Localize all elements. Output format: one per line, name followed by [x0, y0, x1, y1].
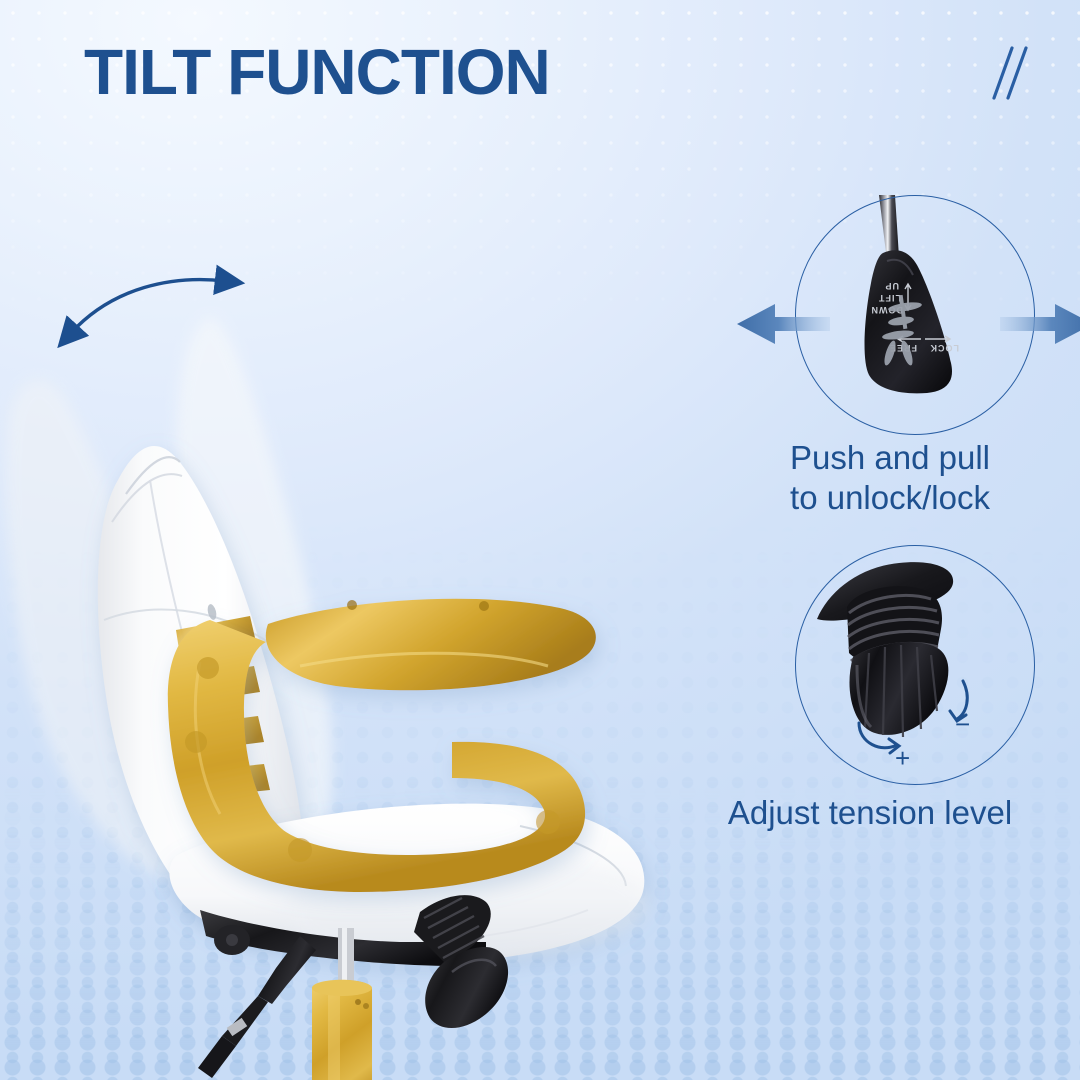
- infographic-canvas: TILT FUNCTION: [0, 0, 1080, 1080]
- callout-caption-1: Push and pull to unlock/lock: [700, 438, 1080, 519]
- page-title: TILT FUNCTION: [84, 40, 550, 104]
- callout-ring-2: [795, 545, 1035, 785]
- arrow-left-icon: [735, 300, 830, 348]
- callout-tilt-lever: FREE LOCK DOWN LIFT UP: [795, 195, 1035, 435]
- office-chair-illustration: [0, 150, 700, 1080]
- callout-caption-2: Adjust tension level: [660, 793, 1080, 833]
- double-slash-icon: [976, 44, 1032, 104]
- tilt-lever-handle: [198, 936, 316, 1078]
- callout-tension-knob: + −: [795, 545, 1035, 785]
- callout-ring-1: [795, 195, 1035, 435]
- arrow-right-icon: [1000, 300, 1080, 348]
